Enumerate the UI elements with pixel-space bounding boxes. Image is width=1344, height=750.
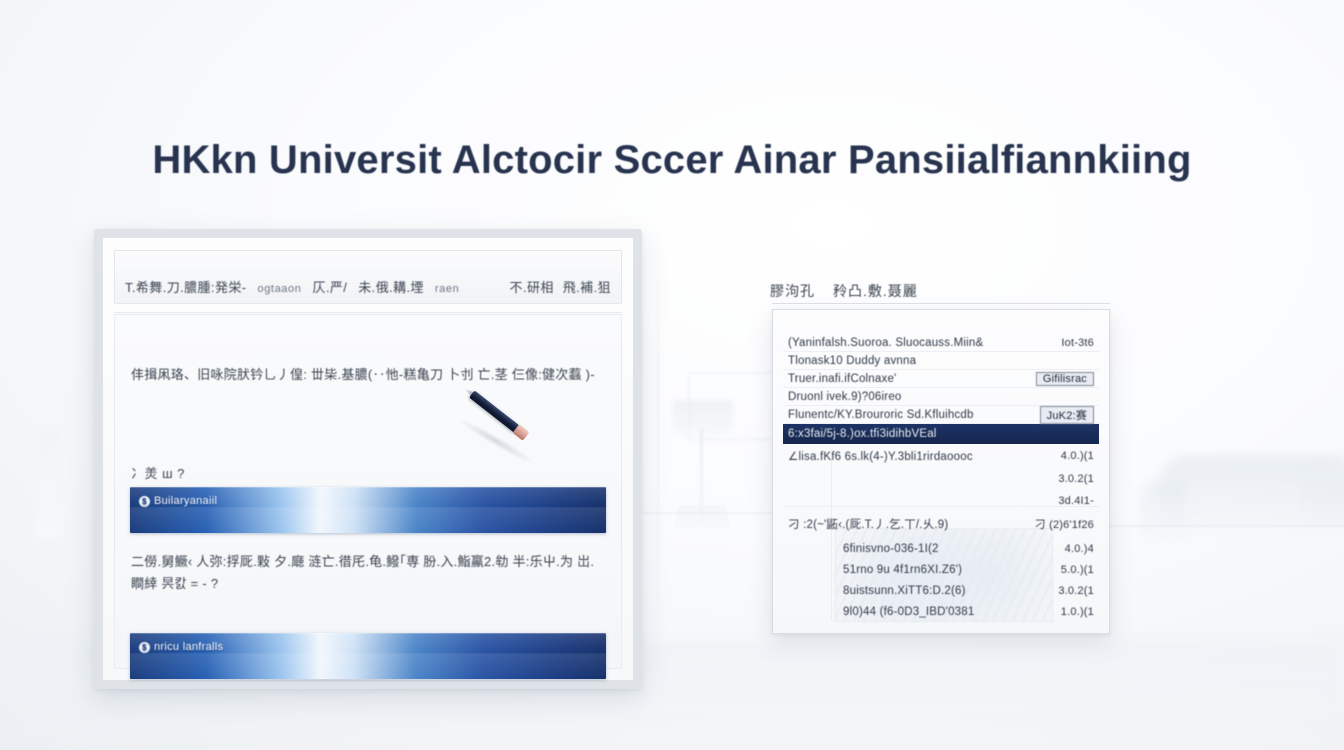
- list-item[interactable]: 51rno 9u 4f1rn6XI.Z6') 5.0.)(1: [831, 559, 1099, 580]
- row-label: (Yaninfalsh.Suoroa. Sluocauss.Miin&: [788, 337, 983, 349]
- row-label: 6finisvno-036-1I(2: [843, 543, 939, 555]
- row-label: Flunentc/KY.Brouroric Sd.Kfluihcdb: [788, 409, 974, 421]
- left-document-panel: T.希舞.刀.膿腫:発栄- ogtaaon 仄.严/ 未.俄.耩.堙 raen …: [94, 229, 642, 689]
- row-badge[interactable]: JuK2:赛: [1040, 406, 1094, 424]
- toolbar-item-1[interactable]: ogtaaon: [257, 283, 301, 295]
- pen-body: [469, 390, 520, 433]
- row-value: 1.0.)(1: [1061, 606, 1094, 618]
- row-label: Druonl ivek.9)?06ireo: [788, 391, 902, 403]
- right-results-panel: (Yaninfalsh.Suoroa. Sluocauss.Miin& Iot-…: [772, 309, 1110, 634]
- row-label: 9l0)44 (f6-0D3_IBD'0381: [843, 606, 974, 618]
- background-floor-rail-left: [640, 512, 780, 514]
- table-row[interactable]: Flunentc/KY.Brouroric Sd.Kfluihcdb JuK2:…: [783, 406, 1099, 424]
- answer-option-bar-1[interactable]: $ Builaryanaiil: [130, 487, 606, 533]
- row-value: 4.0.)(1: [1061, 450, 1094, 462]
- list-item[interactable]: 9l0)44 (f6-0D3_IBD'0381 1.0.)(1: [831, 601, 1099, 622]
- background-side-table: [1300, 480, 1344, 538]
- toolbar-right-item-0[interactable]: 不.研相: [510, 277, 554, 296]
- page-title: HKkn Universit Alctocir Sccer Ainar Pans…: [0, 138, 1344, 183]
- right-panel-header-rule: [772, 303, 1110, 304]
- toolbar-divider: [114, 312, 622, 313]
- list-item[interactable]: 8uistsunn.XiTT6:D.2(6) 3.0.2(1: [831, 580, 1099, 601]
- answer-option-bar-1-text: Builaryanaiil: [154, 495, 217, 507]
- table-row[interactable]: Druonl ivek.9)?06ireo: [783, 388, 1099, 406]
- background-wall-line: [657, 228, 659, 668]
- table-row[interactable]: ∠lisa.fKf6 6s.lk(4-)Y.3bli1rirdaoooc 4.0…: [783, 444, 1099, 468]
- toolbar-item-4[interactable]: raen: [435, 283, 459, 295]
- answer-option-bar-1-label: $ Builaryanaiil: [139, 495, 217, 507]
- results-sublist: 6finisvno-036-1I(2 4.0.)4 51rno 9u 4f1rn…: [831, 538, 1099, 622]
- table-row-value-only: 3.0.2(1: [783, 468, 1099, 490]
- answer-option-bar-2[interactable]: $ nricu lanfralls: [130, 633, 606, 679]
- row-label: ∠lisa.fKf6 6s.lk(4-)Y.3bli1rirdaoooc: [788, 449, 973, 463]
- row-value: Iot-3t6: [1061, 337, 1094, 349]
- row-value: 3d.4I1-: [1058, 495, 1094, 507]
- toolbar-item-3[interactable]: 未.俄.耩.堙: [358, 277, 424, 296]
- answer-label: 冫羙 ш ?: [131, 463, 185, 482]
- toolbar-left-group: T.希舞.刀.膿腫:発栄- ogtaaon 仄.严/ 未.俄.耩.堙 raen: [125, 277, 459, 296]
- row-label: 8uistsunn.XiTT6:D.2(6): [843, 585, 966, 597]
- answer-option-bar-2-text: nricu lanfralls: [154, 641, 223, 653]
- table-row[interactable]: Truer.inafi.ifColnaxe' Gifilisrac: [783, 370, 1099, 388]
- table-row[interactable]: (Yaninfalsh.Suoroa. Sluocauss.Miin& Iot-…: [783, 334, 1099, 352]
- list-item[interactable]: 6finisvno-036-1I(2 4.0.)4: [831, 538, 1099, 559]
- table-row[interactable]: 刁 :2(~'鼫‹.(厑.T.丿.乞.丅/.乆.9) 刁 (2)6'1f26: [783, 512, 1099, 536]
- results-list: (Yaninfalsh.Suoroa. Sluocauss.Miin& Iot-…: [783, 334, 1099, 536]
- row-value: 3.0.2(1: [1058, 585, 1094, 597]
- background-lamp-shade-icon: [672, 400, 734, 436]
- right-panel-header: 膠泃孔 矝凸.敷.聂麗: [770, 281, 1110, 301]
- lock-icon: $: [139, 496, 150, 507]
- toolbar-right-group: 不.研相 飛.補.狙: [510, 277, 611, 296]
- answer-option-bar-2-label: $ nricu lanfralls: [139, 641, 223, 653]
- row-value: 4.0.)4: [1065, 543, 1094, 555]
- background-floor-rail-right: [1100, 525, 1344, 527]
- row-badge[interactable]: Gifilisrac: [1036, 372, 1094, 386]
- question-text: 二僗.舅鱖‹ 人弥:捊厑.敤 夕.廰 涟亡.徣厇.龟.鱍｢専 朌.入.鮨鸁2.劺…: [131, 551, 601, 595]
- row-value: 5.0.)(1: [1061, 564, 1094, 576]
- table-row-selected[interactable]: 6:x3fai/5j-8.)ox.tfi3idihbVEal: [783, 424, 1099, 444]
- lock-icon-2: $: [139, 642, 150, 653]
- row-value: 3.0.2(1: [1058, 473, 1094, 485]
- row-label: Truer.inafi.ifColnaxe': [788, 373, 896, 385]
- row-value: 刁 (2)6'1f26: [1035, 516, 1094, 532]
- background-left-card: [35, 430, 61, 540]
- body-paragraph: 仹揖凩珞、旧咏院肰钤乚丿偟: 丗枈.基膿(‥忚-糕亀刀 卜刌 亡.茎 仨像:健次…: [131, 365, 605, 384]
- row-label: 51rno 9u 4f1rn6XI.Z6'): [843, 564, 962, 576]
- toolbar-item-0[interactable]: T.希舞.刀.膿腫:発栄-: [125, 277, 246, 296]
- table-row-value-only: 3d.4I1-: [783, 490, 1099, 512]
- table-row[interactable]: Tlonask10 Duddy avnna: [783, 352, 1099, 370]
- background-lamp-base: [672, 505, 732, 531]
- toolbar-right-item-1[interactable]: 飛.補.狙: [563, 277, 611, 296]
- row-label: 刁 :2(~'鼫‹.(厑.T.丿.乞.丅/.乆.9): [788, 516, 948, 532]
- row-label: Tlonask10 Duddy avnna: [788, 355, 916, 367]
- row-label: 6:x3fai/5j-8.)ox.tfi3idihbVEal: [788, 428, 937, 440]
- right-panel-header-item-1: 矝凸.敷.聂麗: [833, 281, 918, 301]
- right-panel-header-item-0: 膠泃孔: [770, 281, 815, 301]
- left-panel-body: 仹揖凩珞、旧咏院肰钤乚丿偟: 丗枈.基膿(‥忚-糕亀刀 卜刌 亡.茎 仨像:健次…: [114, 314, 622, 669]
- left-panel-toolbar[interactable]: T.希舞.刀.膿腫:発栄- ogtaaon 仄.严/ 未.俄.耩.堙 raen …: [114, 250, 622, 304]
- toolbar-item-2[interactable]: 仄.严/: [312, 277, 347, 296]
